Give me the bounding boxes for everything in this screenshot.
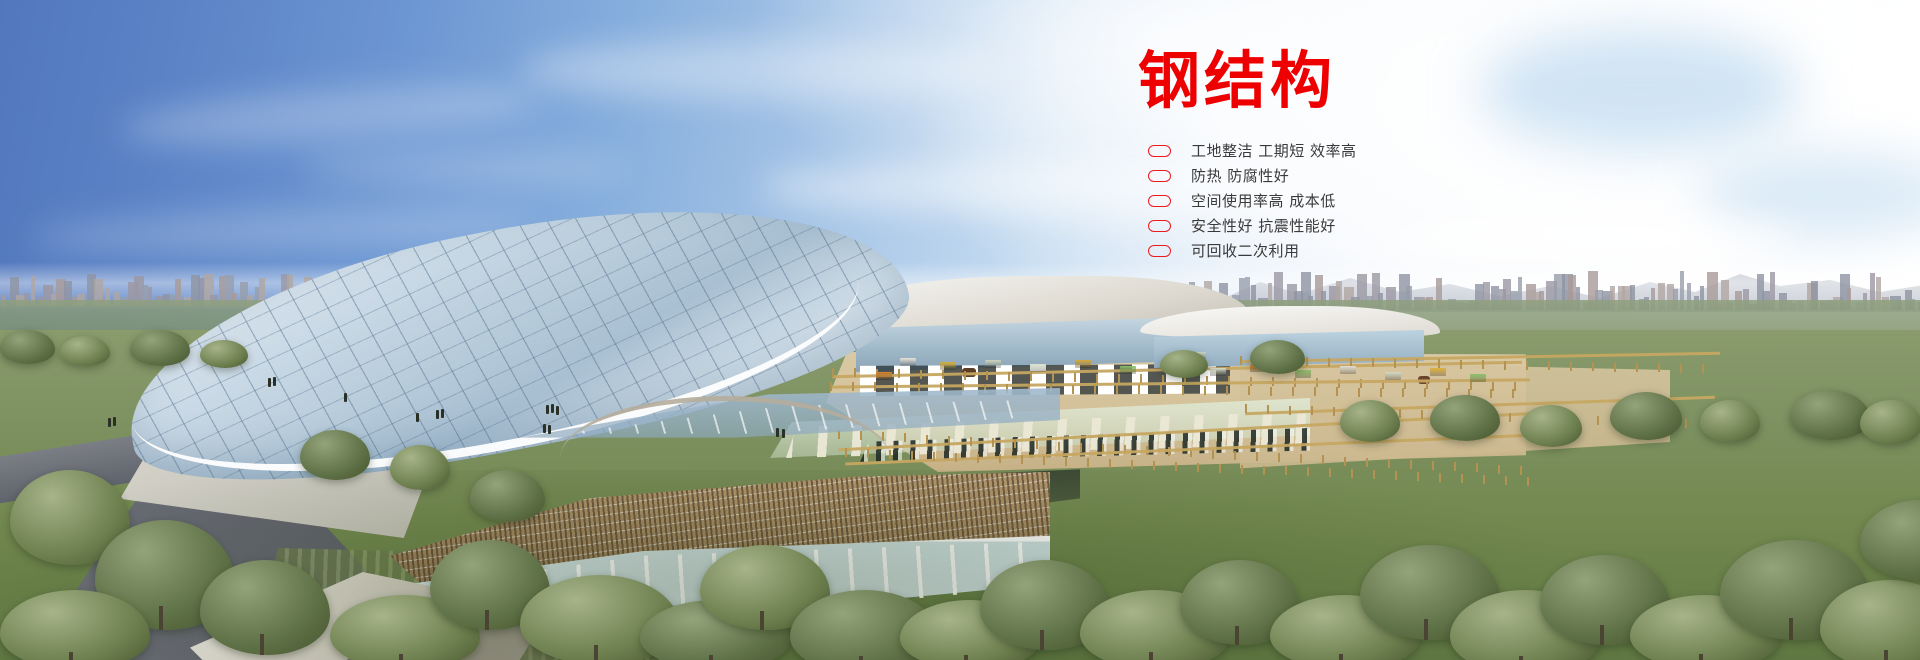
list-item: 空间使用率高 成本低 xyxy=(1120,188,1640,213)
pill-bullet-icon xyxy=(1148,145,1171,157)
feature-text: 空间使用率高 成本低 xyxy=(1191,190,1336,211)
feature-text: 工地整洁 工期短 效率高 xyxy=(1191,140,1357,161)
feature-text: 防热 防腐性好 xyxy=(1191,165,1289,186)
banner-image: 钢结构 工地整洁 工期短 效率高 防热 防腐性好 空间使用率高 成本低 安全性好… xyxy=(0,0,1920,660)
list-item: 安全性好 抗震性能好 xyxy=(1120,213,1640,238)
feature-text: 可回收二次利用 xyxy=(1191,240,1300,261)
feature-list: 工地整洁 工期短 效率高 防热 防腐性好 空间使用率高 成本低 安全性好 抗震性… xyxy=(1120,138,1640,263)
promo-text-panel: 钢结构 工地整洁 工期短 效率高 防热 防腐性好 空间使用率高 成本低 安全性好… xyxy=(1120,50,1640,263)
feature-text: 安全性好 抗震性能好 xyxy=(1191,215,1336,236)
list-item: 工地整洁 工期短 效率高 xyxy=(1120,138,1640,163)
page-title: 钢结构 xyxy=(1138,50,1640,112)
list-item: 可回收二次利用 xyxy=(1120,238,1640,263)
cloud-wisp xyxy=(520,40,1000,100)
pill-bullet-icon xyxy=(1148,245,1171,257)
pill-bullet-icon xyxy=(1148,220,1171,232)
pill-bullet-icon xyxy=(1148,170,1171,182)
list-item: 防热 防腐性好 xyxy=(1120,163,1640,188)
pill-bullet-icon xyxy=(1148,195,1171,207)
cloud-wisp xyxy=(300,150,630,186)
